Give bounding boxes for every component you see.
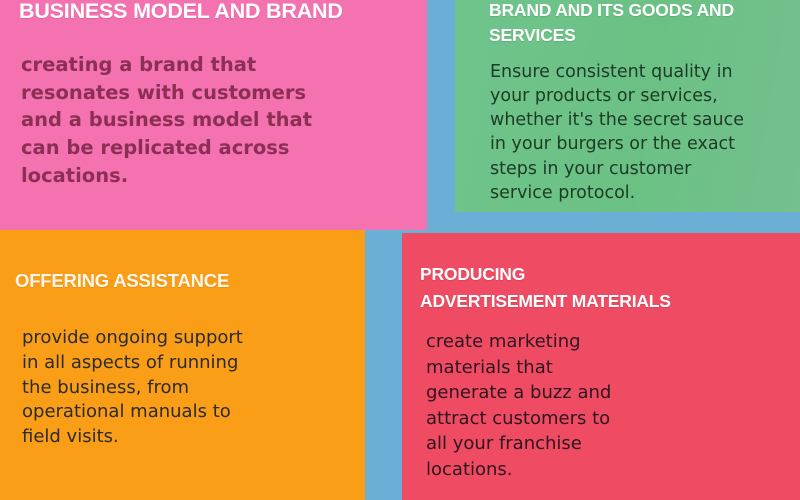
- panel-offering-assistance-body: provide ongoing support in all aspects o…: [22, 326, 322, 450]
- panel-business-model-and-brand: BUSINESS MODEL AND BRAND creating a bran…: [0, 0, 427, 230]
- panel-producing-advertisement-materials-title: PRODUCING ADVERTISEMENT MATERIALS: [420, 261, 770, 315]
- panel-brand-and-its-goods-and-services: BRAND AND ITS GOODS AND SERVICES Ensure …: [455, 0, 800, 212]
- panel-offering-assistance-title: OFFERING ASSISTANCE: [15, 270, 345, 293]
- panel-producing-advertisement-materials: PRODUCING ADVERTISEMENT MATERIALS create…: [402, 233, 800, 500]
- panel-brand-and-its-goods-and-services-body: Ensure consistent quality in your produc…: [490, 60, 790, 205]
- panel-business-model-and-brand-body: creating a brand that resonates with cus…: [21, 51, 351, 189]
- panel-offering-assistance: OFFERING ASSISTANCE provide ongoing supp…: [0, 230, 365, 500]
- panel-brand-and-its-goods-and-services-title: BRAND AND ITS GOODS AND SERVICES: [489, 0, 789, 49]
- panel-business-model-and-brand-title: BUSINESS MODEL AND BRAND: [19, 0, 409, 24]
- infographic-canvas: BUSINESS MODEL AND BRAND creating a bran…: [0, 0, 800, 500]
- panel-producing-advertisement-materials-body: create marketing materials that generate…: [426, 329, 716, 482]
